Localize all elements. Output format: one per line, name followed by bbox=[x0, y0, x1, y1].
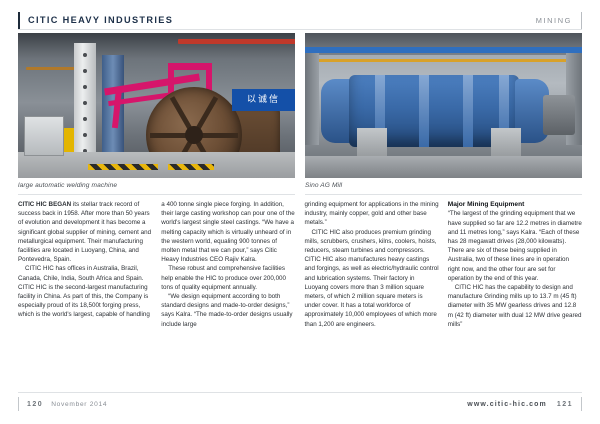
caption-rule-left bbox=[18, 194, 295, 195]
hazard-stripe bbox=[168, 164, 214, 170]
overhead-crane-rail bbox=[178, 39, 295, 44]
yellow-bollard bbox=[64, 128, 74, 152]
footer-right-group: www.citic-hic.com 121 bbox=[467, 396, 582, 412]
publication-title: CITIC HEAVY INDUSTRIES bbox=[28, 15, 173, 25]
section-label: MINING bbox=[536, 16, 572, 25]
footer-divider-left bbox=[18, 397, 19, 411]
paragraph: a 400 tonne single piece forging. In add… bbox=[161, 200, 295, 264]
paragraph: CITIC HIC has the capability to design a… bbox=[448, 283, 582, 329]
page-number-left: 120 bbox=[27, 401, 43, 408]
welding-machine-photo: 以诚信 bbox=[18, 33, 295, 178]
lead-in-text: CITIC HIC BEGAN bbox=[18, 201, 71, 208]
article-column-4: Major Mining Equipment “The largest of t… bbox=[448, 200, 582, 385]
header-right-group: MINING bbox=[536, 10, 582, 30]
yellow-service-rail bbox=[305, 59, 582, 62]
paragraph: grinding equipment for applications in t… bbox=[305, 200, 439, 228]
article-column-1: CITIC HIC BEGAN its stellar track record… bbox=[18, 200, 152, 385]
blue-crane-beam bbox=[305, 47, 582, 53]
magazine-spread: CITIC HEAVY INDUSTRIES MINING bbox=[0, 0, 600, 424]
control-cabinet bbox=[24, 116, 64, 156]
paragraph-text: its stellar track record of success back… bbox=[18, 201, 151, 263]
page-footer: 120 November 2014 www.citic-hic.com 121 bbox=[18, 396, 582, 412]
footer-divider-right bbox=[581, 397, 582, 411]
mill-drive-motor bbox=[543, 95, 575, 135]
header-left-group: CITIC HEAVY INDUSTRIES bbox=[18, 10, 173, 30]
paragraph: These robust and comprehensive facilitie… bbox=[161, 264, 295, 292]
footer-rule bbox=[18, 392, 582, 393]
footer-left-group: 120 November 2014 bbox=[18, 396, 107, 412]
paragraph: “The largest of the grinding equipment t… bbox=[448, 209, 582, 283]
caption-welding-machine: large automatic welding machine bbox=[18, 182, 117, 189]
issue-date: November 2014 bbox=[51, 401, 107, 408]
mill-hall-floor bbox=[305, 156, 582, 178]
sino-ag-mill-photo bbox=[305, 33, 582, 178]
factory-roof bbox=[18, 33, 295, 59]
caption-rule-right bbox=[305, 194, 582, 195]
header-divider-left bbox=[18, 12, 20, 29]
photo-right-scene bbox=[305, 33, 582, 178]
photo-left-scene: 以诚信 bbox=[18, 33, 295, 178]
caption-sino-ag-mill: Sino AG Mill bbox=[305, 182, 342, 189]
chinese-slogan-banner: 以诚信 bbox=[232, 89, 295, 111]
paragraph: CITIC HIC has offices in Australia, Braz… bbox=[18, 264, 152, 319]
website-url[interactable]: www.citic-hic.com bbox=[467, 401, 547, 408]
hazard-stripe bbox=[88, 164, 158, 170]
paragraph: CITIC HIC also produces premium grinding… bbox=[305, 228, 439, 329]
header-divider-right bbox=[581, 12, 582, 29]
page-number-right: 121 bbox=[557, 401, 573, 408]
article-body: CITIC HIC BEGAN its stellar track record… bbox=[18, 200, 582, 385]
paragraph: CITIC HIC BEGAN its stellar track record… bbox=[18, 200, 152, 264]
section-heading: Major Mining Equipment bbox=[448, 200, 582, 209]
hall-wall-left bbox=[305, 53, 319, 145]
header-rule bbox=[18, 29, 582, 30]
article-column-3: grinding equipment for applications in t… bbox=[305, 200, 439, 385]
article-column-2: a 400 tonne single piece forging. In add… bbox=[161, 200, 295, 385]
page-header: CITIC HEAVY INDUSTRIES MINING bbox=[18, 10, 582, 30]
paragraph: “We design equipment according to both s… bbox=[161, 292, 295, 329]
